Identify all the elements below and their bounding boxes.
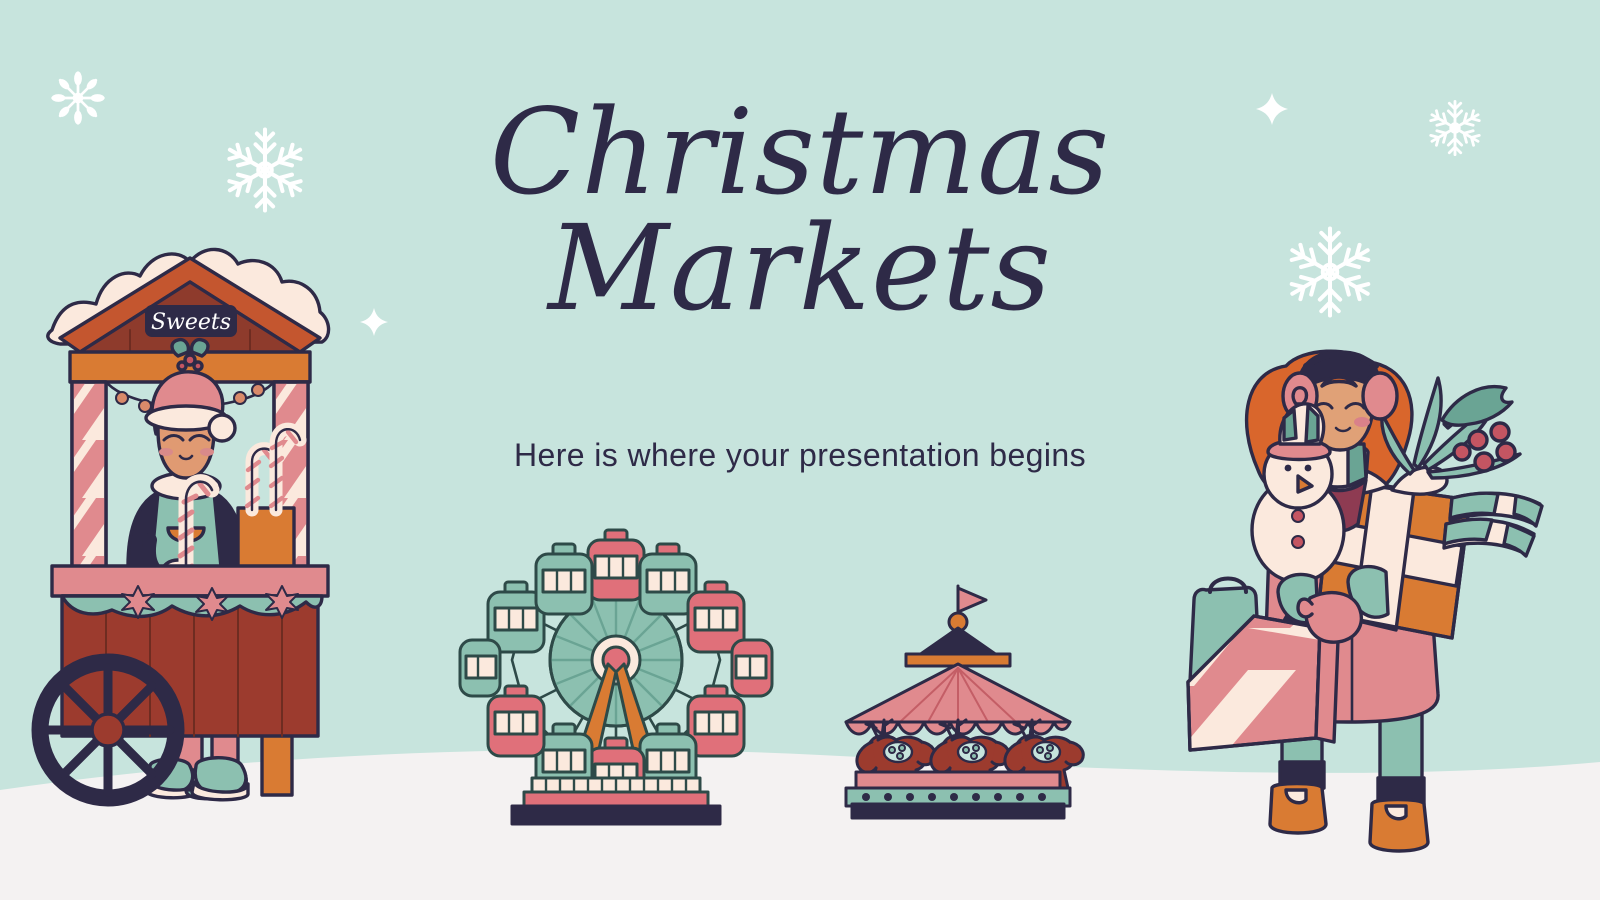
slide-subtitle: Here is where your presentation begins (300, 437, 1300, 474)
slide-canvas: Sweets (0, 0, 1600, 900)
